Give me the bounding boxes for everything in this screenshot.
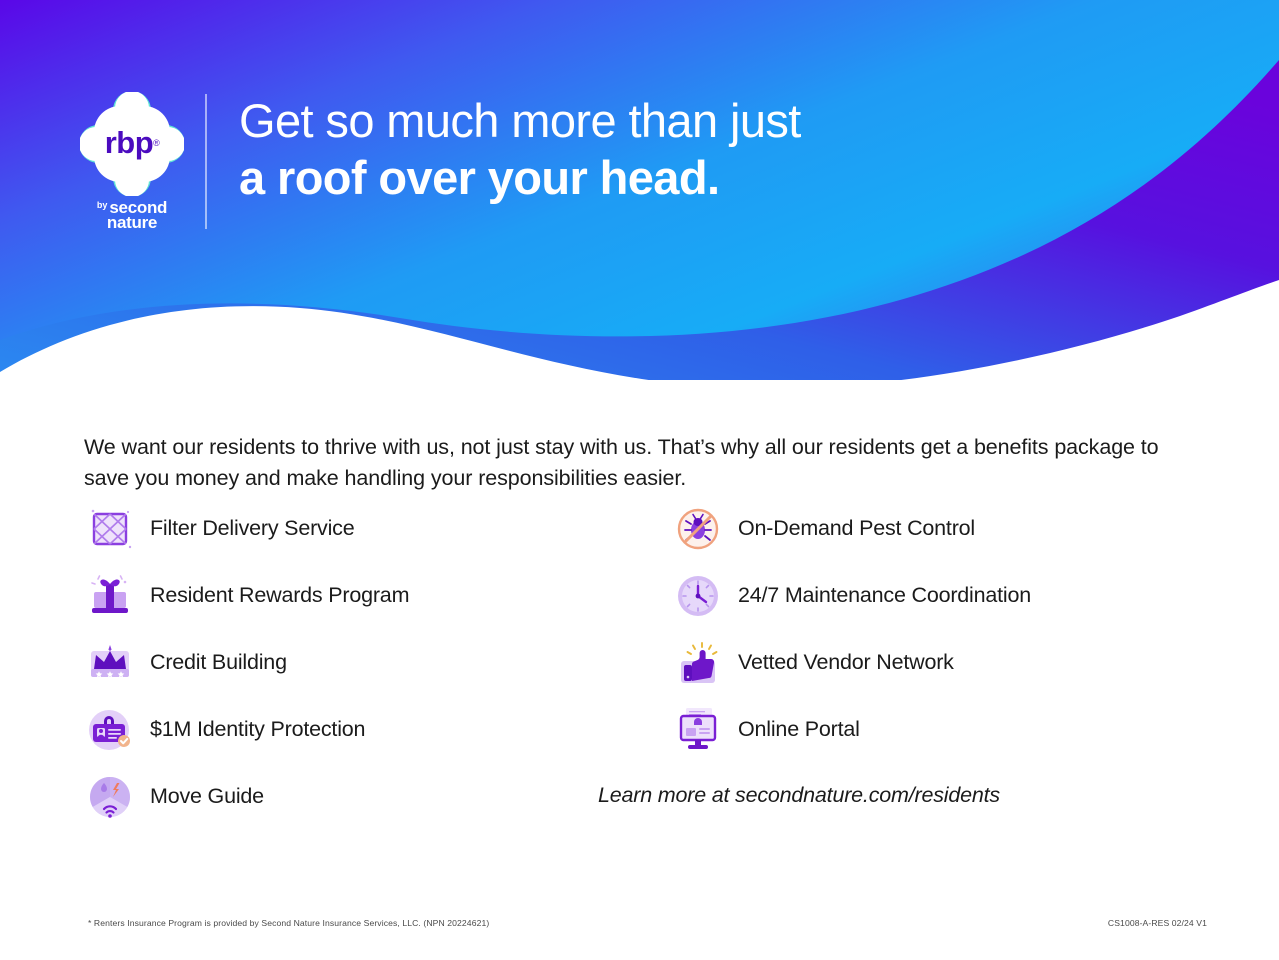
headline-line-1: Get so much more than just bbox=[239, 96, 801, 146]
benefit-item: On-Demand Pest Control bbox=[672, 495, 1212, 562]
rbp-wordmark: rbp bbox=[105, 125, 153, 161]
gift-box-icon bbox=[84, 570, 136, 622]
benefit-label: Credit Building bbox=[150, 650, 287, 675]
benefit-item: Credit Building bbox=[84, 629, 624, 696]
hero-banner: rbp® bysecond nature Get so much more th… bbox=[0, 0, 1279, 380]
benefits-left-column: Filter Delivery Service Resident Rewards… bbox=[84, 495, 624, 830]
identity-briefcase-icon bbox=[84, 704, 136, 756]
monitor-icon bbox=[672, 704, 724, 756]
rbp-badge-text: rbp® bbox=[80, 92, 184, 196]
hero-divider bbox=[205, 94, 207, 229]
benefit-item: Filter Delivery Service bbox=[84, 495, 624, 562]
thumbs-up-icon bbox=[672, 637, 724, 689]
headline-line-2: a roof over your head. bbox=[239, 153, 801, 203]
logo-byline: bysecond nature bbox=[78, 199, 186, 231]
benefit-item: Online Portal bbox=[672, 696, 1212, 763]
air-filter-icon bbox=[84, 503, 136, 555]
rbp-logo: rbp® bysecond nature bbox=[78, 92, 186, 231]
rbp-badge: rbp® bbox=[80, 92, 184, 196]
learn-more-text: Learn more at secondnature.com/residents bbox=[598, 783, 1000, 808]
clock-icon bbox=[672, 570, 724, 622]
benefit-item: Resident Rewards Program bbox=[84, 562, 624, 629]
benefit-item: 24/7 Maintenance Coordination bbox=[672, 562, 1212, 629]
rbp-trademark: ® bbox=[153, 138, 159, 148]
benefit-label: Move Guide bbox=[150, 784, 264, 809]
footer-disclaimer: * Renters Insurance Program is provided … bbox=[88, 918, 489, 928]
no-pest-icon bbox=[672, 503, 724, 555]
utilities-wheel-icon bbox=[84, 771, 136, 823]
benefit-label: Filter Delivery Service bbox=[150, 516, 354, 541]
footer-document-code: CS1008-A-RES 02/24 V1 bbox=[1108, 918, 1207, 928]
benefit-item: $1M Identity Protection bbox=[84, 696, 624, 763]
logo-brand-line2: nature bbox=[78, 214, 186, 231]
intro-paragraph: We want our residents to thrive with us,… bbox=[84, 432, 1164, 494]
logo-by-label: by bbox=[97, 201, 108, 210]
benefit-label: On-Demand Pest Control bbox=[738, 516, 975, 541]
benefit-label: Online Portal bbox=[738, 717, 860, 742]
benefit-label: Vetted Vendor Network bbox=[738, 650, 954, 675]
benefits-right-column: On-Demand Pest Control bbox=[672, 495, 1212, 763]
benefit-label: Resident Rewards Program bbox=[150, 583, 409, 608]
benefit-label: $1M Identity Protection bbox=[150, 717, 365, 742]
benefit-item: Move Guide bbox=[84, 763, 624, 830]
benefit-label: 24/7 Maintenance Coordination bbox=[738, 583, 1031, 608]
benefit-item: Vetted Vendor Network bbox=[672, 629, 1212, 696]
hero-headline: Get so much more than just a roof over y… bbox=[239, 96, 801, 203]
credit-crown-icon bbox=[84, 637, 136, 689]
